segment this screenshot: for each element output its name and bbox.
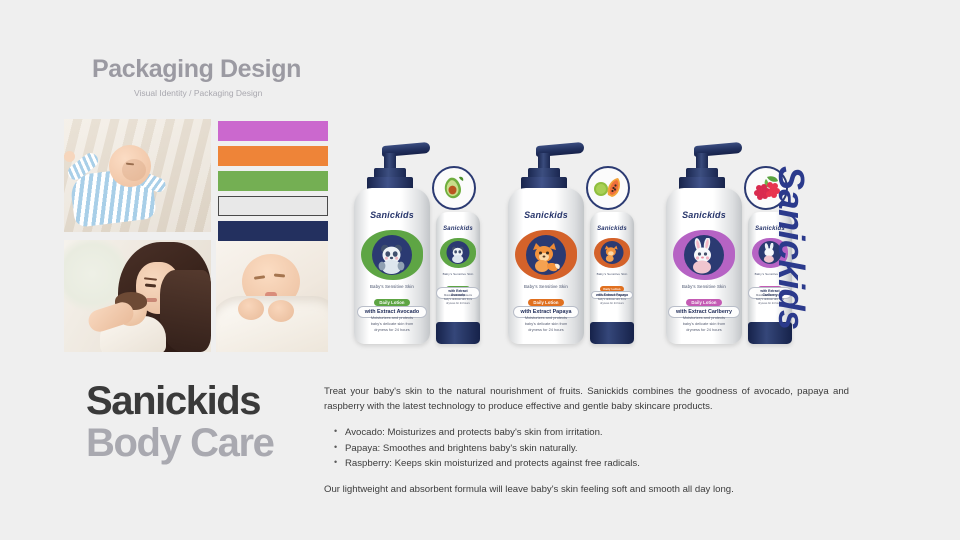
bottle-description: Moisturizes and protects baby's delicate… — [666, 315, 742, 333]
title-line-2: Body Care — [86, 423, 273, 465]
bottle-sensitive-line: Baby's Sensitive Skin — [508, 284, 584, 289]
bottle-brand: Sanickids — [508, 210, 584, 220]
tube-panda-icon — [449, 244, 468, 268]
tube-brand: Sanickids — [436, 226, 480, 232]
bottle-description: Moisturizes and protects baby's delicate… — [354, 315, 430, 333]
newborn-hand-left — [238, 298, 264, 320]
page-title: Packaging Design — [92, 55, 301, 84]
photo-mother-holding-baby — [64, 240, 211, 352]
bottle-body: Sanickids — [508, 188, 584, 344]
tube-papaya: Sanickids Baby's Sensitive Skin Daily Lo… — [590, 212, 634, 344]
swatch-white — [218, 196, 328, 216]
newborn-hand-right — [268, 300, 294, 322]
photo-sleeping-baby-blue-stripes — [64, 119, 211, 232]
tube-sensitive-line: Baby's Sensitive Skin — [590, 272, 634, 276]
title-line-1: Sanickids — [86, 381, 273, 423]
tube-brand: Sanickids — [590, 226, 634, 232]
bottle-body: Sanickids — [666, 188, 742, 344]
list-item: Raspberry: Keeps skin moisturized and pr… — [334, 456, 849, 472]
list-item: Avocado: Moisturizes and protects baby's… — [334, 425, 849, 441]
bunny-icon — [687, 238, 721, 279]
bottle-sensitive-line: Baby's Sensitive Skin — [666, 284, 742, 289]
bottle-sensitive-line: Baby's Sensitive Skin — [354, 284, 430, 289]
benefit-list: Avocado: Moisturizes and protects baby's… — [334, 425, 849, 472]
page-subtitle: Visual Identity / Packaging Design — [134, 88, 301, 98]
tube-sensitive-line: Baby's Sensitive Skin — [436, 272, 480, 276]
fox-icon — [529, 242, 563, 279]
tube-cap — [436, 322, 480, 344]
swatch-navy — [218, 221, 328, 241]
list-item: Papaya: Smoothes and brightens baby's sk… — [334, 441, 849, 457]
swatch-orchid-pink — [218, 121, 328, 141]
color-palette — [218, 121, 328, 246]
tube-description: Moisturizes and protects baby's delicate… — [590, 294, 634, 306]
pump-bottle-papaya: Sanickids — [508, 144, 584, 344]
tube-cap — [590, 322, 634, 344]
avocado-icon — [440, 174, 468, 202]
mother-lips — [146, 298, 157, 302]
fruit-badge-avocado — [432, 166, 476, 210]
tube-fox-icon — [603, 245, 622, 268]
pump-bottle-avocado: Sanickids — [354, 144, 430, 344]
fruit-badge-papaya — [586, 166, 630, 210]
swatch-orange — [218, 146, 328, 166]
photo-sleeping-newborn-towel — [216, 240, 328, 352]
intro-paragraph: Treat your baby's skin to the natural no… — [324, 385, 849, 414]
bottle-body: Sanickids — [354, 188, 430, 344]
pump-bottle-raspberry: Sanickids — [666, 144, 742, 344]
papaya-icon — [593, 175, 623, 201]
product-title-block: Sanickids Body Care — [86, 381, 273, 464]
panda-icon — [375, 240, 409, 279]
swatch-green — [218, 171, 328, 191]
bottle-brand: Sanickids — [666, 210, 742, 220]
tube-description: Moisturizes and protects baby's delicate… — [436, 294, 480, 306]
header: Packaging Design Visual Identity / Packa… — [92, 55, 301, 98]
bottle-description: Moisturizes and protects baby's delicate… — [508, 315, 584, 333]
baby-left-hand — [64, 151, 75, 162]
vertical-brand-wordmark: Sanickids — [770, 166, 812, 356]
bottle-brand: Sanickids — [354, 210, 430, 220]
closing-paragraph: Our lightweight and absorbent formula wi… — [324, 483, 849, 498]
tube-avocado: Sanickids Baby's Sensitive Skin Daily — [436, 212, 480, 344]
description-block: Treat your baby's skin to the natural no… — [324, 385, 849, 497]
mother-hair-front — [160, 270, 211, 352]
